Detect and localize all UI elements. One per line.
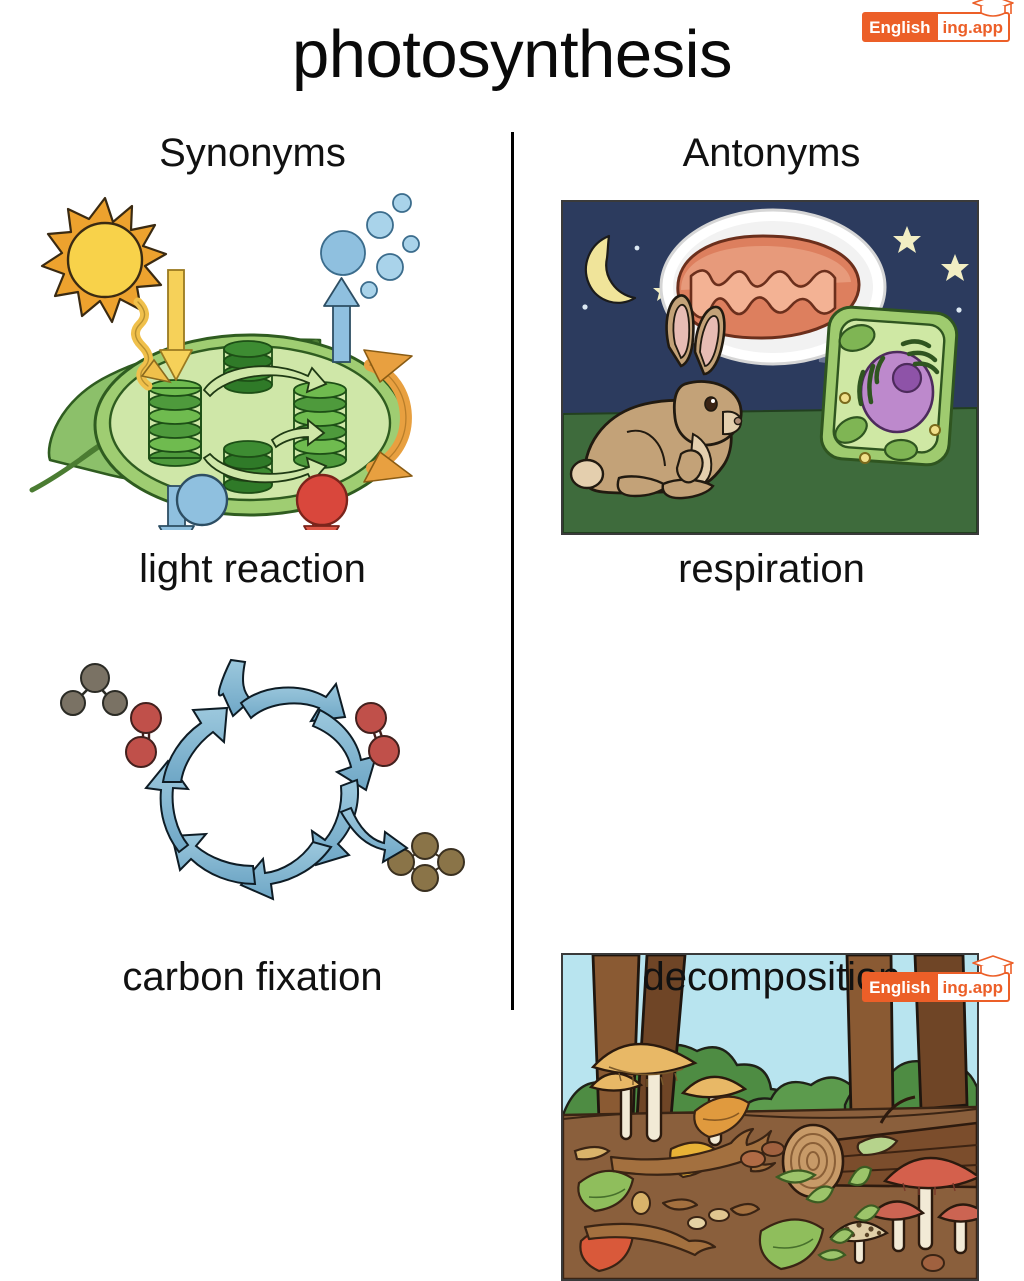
caption-respiration: respiration — [519, 547, 1024, 592]
nucleolus — [893, 364, 921, 392]
column-divider — [511, 132, 514, 1010]
co2-molecule-circle — [297, 475, 347, 525]
co2-molecule-right — [356, 703, 399, 766]
illustration-decomposition — [561, 953, 979, 1281]
illustration-respiration — [561, 200, 979, 535]
water-molecule — [61, 664, 127, 715]
logo-text-secondary: ing.app — [936, 14, 1008, 40]
calvin-cycle-ring — [146, 660, 376, 899]
brand-logo-top[interactable]: English ing.app — [862, 12, 1010, 42]
word-card: photosynthesis Synonyms Antonyms — [0, 0, 1024, 1024]
water-molecule-circle — [177, 475, 227, 525]
illustration-light-reaction-products — [170, 470, 370, 530]
caption-carbon-fixation: carbon fixation — [0, 955, 505, 1000]
logo-text-secondary: ing.app — [936, 974, 1008, 1000]
oxygen-bubbles — [321, 194, 419, 298]
graduation-cap-icon — [972, 955, 1014, 977]
cycle-exit-arrow — [341, 808, 407, 862]
plant-cell-shape — [820, 306, 958, 467]
brand-logo-bottom[interactable]: English ing.app — [862, 972, 1010, 1002]
graduation-cap-icon — [972, 0, 1014, 17]
caption-light-reaction: light reaction — [0, 547, 505, 592]
antonyms-heading: Antonyms — [519, 131, 1024, 176]
logo-text-primary: English — [864, 14, 935, 40]
illustration-carbon-fixation — [55, 640, 485, 930]
logo-text-primary: English — [864, 974, 935, 1000]
synonyms-heading: Synonyms — [0, 131, 505, 176]
sun-icon — [42, 198, 166, 322]
co2-molecule-left — [126, 703, 161, 767]
